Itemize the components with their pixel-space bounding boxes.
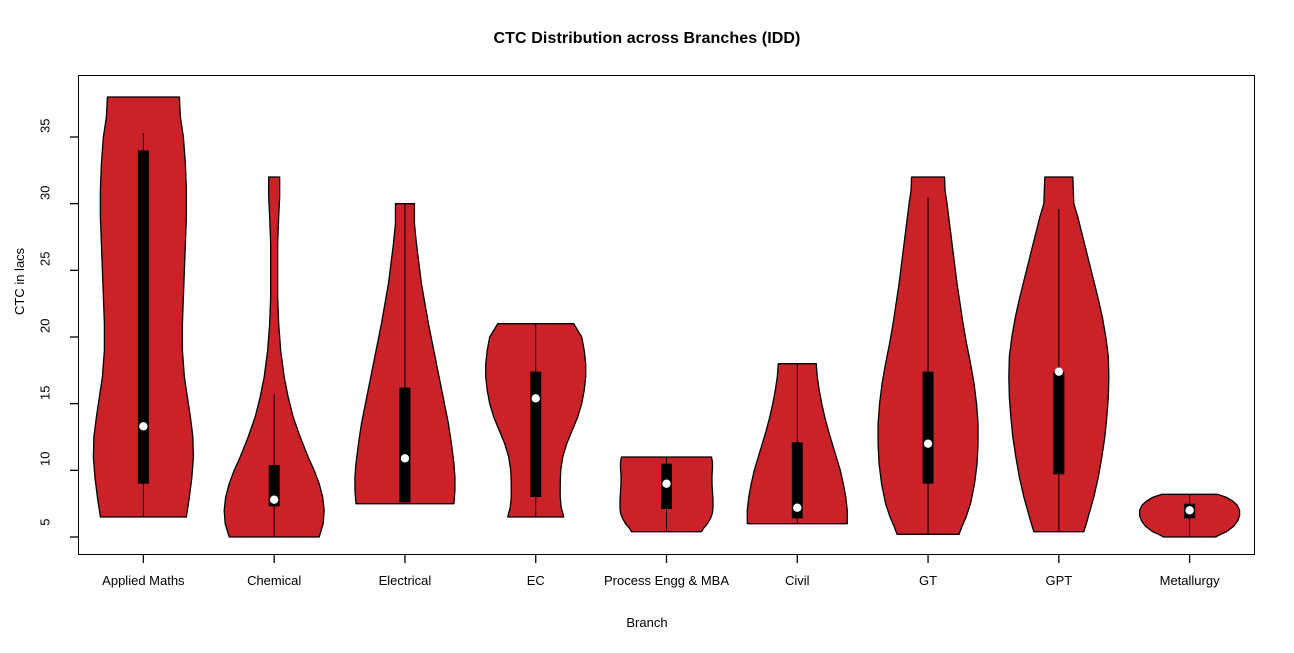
y-tick-label: 20 bbox=[38, 319, 53, 353]
x-tick-label: Electrical bbox=[379, 573, 432, 588]
x-axis-ticks bbox=[143, 555, 1189, 563]
x-tick-label: Process Engg & MBA bbox=[604, 573, 729, 588]
x-tick-label: Chemical bbox=[247, 573, 301, 588]
y-tick-label: 25 bbox=[38, 252, 53, 286]
x-tick-label: Applied Maths bbox=[102, 573, 184, 588]
x-tick-label: Metallurgy bbox=[1160, 573, 1220, 588]
x-tick-label: EC bbox=[527, 573, 545, 588]
x-tick-label: Civil bbox=[785, 573, 810, 588]
y-tick-label: 15 bbox=[38, 385, 53, 419]
y-tick-label: 35 bbox=[38, 119, 53, 153]
y-tick-label: 30 bbox=[38, 185, 53, 219]
y-tick-label: 10 bbox=[38, 452, 53, 486]
chart-root: CTC Distribution across Branches (IDD) C… bbox=[0, 0, 1294, 653]
plot-frame bbox=[78, 75, 1255, 555]
y-tick-label: 5 bbox=[38, 519, 53, 553]
y-axis-ticks bbox=[70, 137, 78, 537]
x-tick-label: GT bbox=[919, 573, 937, 588]
x-tick-label: GPT bbox=[1045, 573, 1072, 588]
